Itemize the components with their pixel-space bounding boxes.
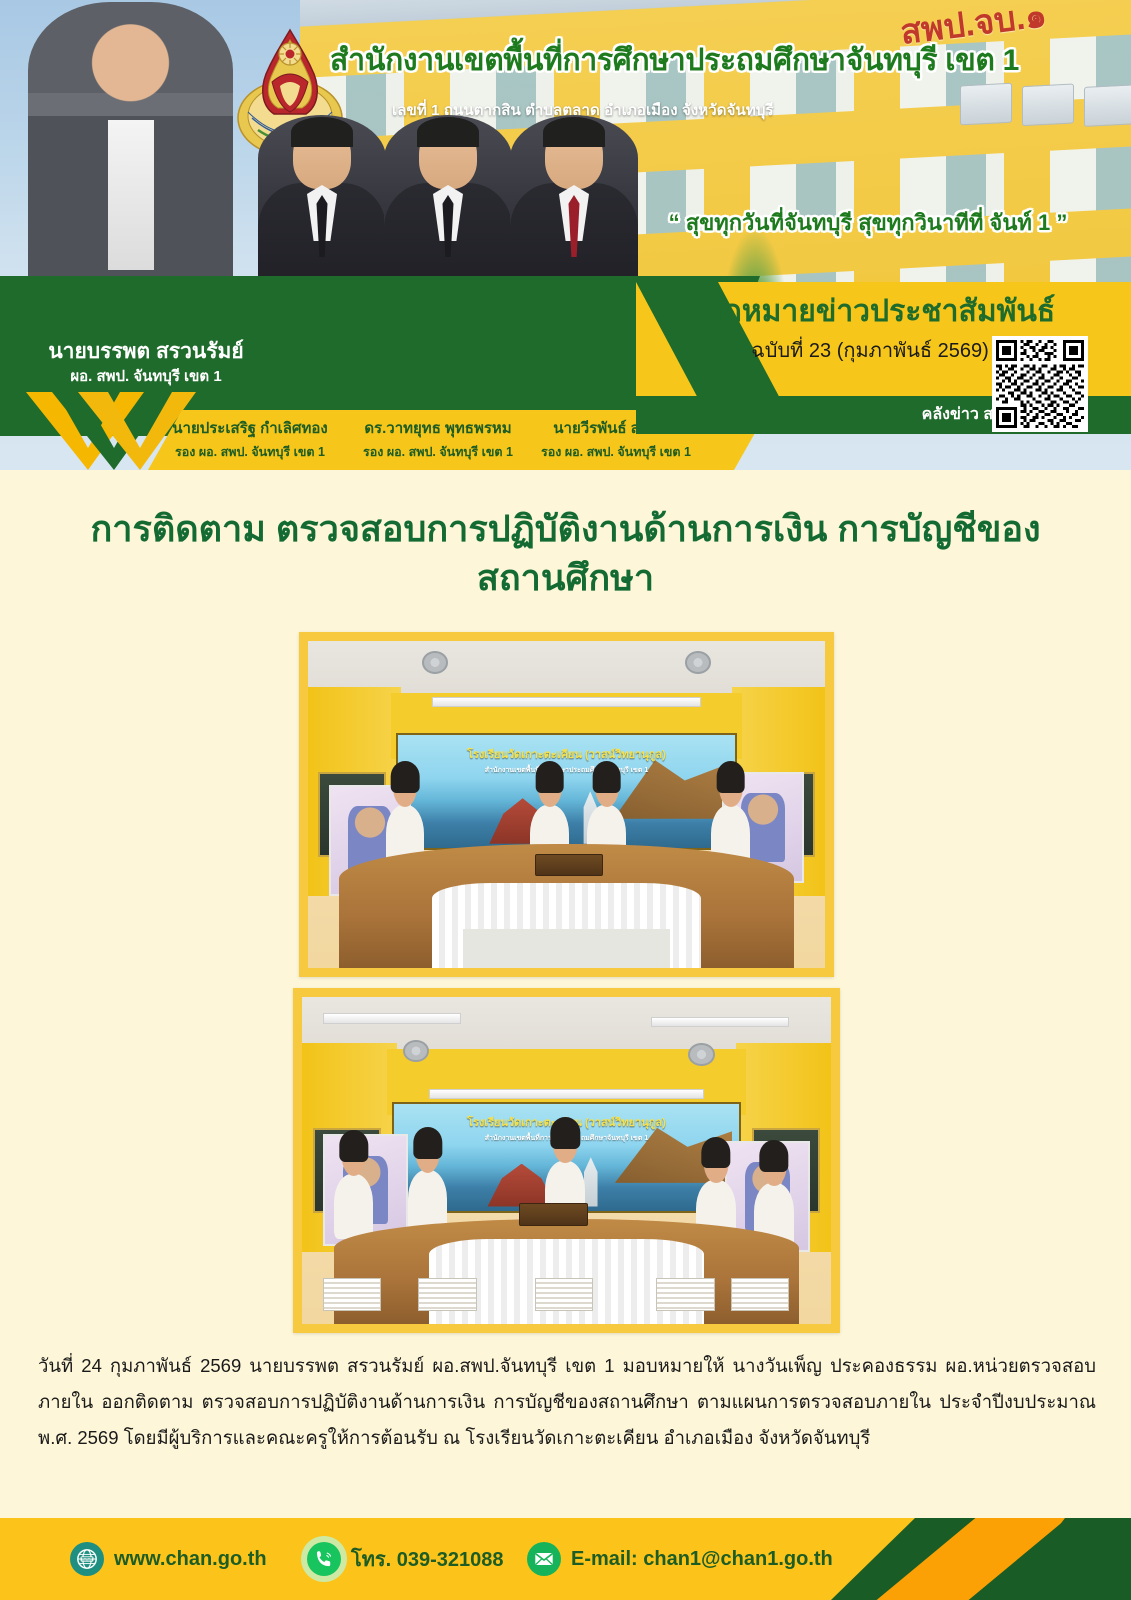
desk-name-plate: [535, 854, 602, 877]
ceiling-fan-icon: [685, 651, 711, 674]
ceiling-fan-icon: [403, 1040, 429, 1063]
portrait-hair: [417, 117, 479, 147]
page-title: การติดตาม ตรวจสอบการปฏิบัติงานด้านการเงิ…: [60, 505, 1071, 602]
office-slogan: “ สุขทุกวันที่จันทบุรี สุขทุกวินาทีที่ จ…: [608, 205, 1128, 240]
document-stack: [323, 1278, 381, 1311]
page-background: [0, 470, 1131, 1500]
deputy-1: นายประเสริฐ กำเลิศทอง รอง ผอ. สพป. จันทบ…: [150, 416, 350, 462]
backdrop-subtitle: สำนักงานเขตพื้นที่การศึกษาประถมศึกษาจันท…: [398, 765, 735, 776]
phone-icon: [307, 1542, 341, 1576]
footer-phone-label: โทร. 039-321088: [351, 1543, 504, 1575]
article-body: วันที่ 24 กุมภาพันธ์ 2569 นายบรรพต สรวนร…: [38, 1348, 1096, 1456]
ceiling-fan-icon: [422, 651, 448, 674]
newsletter-title: จดหมายข่าวประชาสัมพันธ์: [660, 288, 1100, 335]
director-role: ผอ. สพป. จันทบุรี เขต 1: [16, 364, 276, 388]
backdrop-title: โรงเรียนวัดเกาะตะเคียน (วาสน์วิทยานุกูล): [398, 745, 735, 763]
header-banner: สพป.จบ.๑ สำนักงานเขตพื้นที่การศึกษาประถม…: [0, 0, 1131, 470]
office-name: สำนักงานเขตพื้นที่การศึกษาประถมศึกษาจันท…: [330, 44, 1070, 77]
footer-phone[interactable]: โทร. 039-321088: [307, 1542, 504, 1576]
tube-light: [651, 1017, 789, 1027]
photo-1-image: โรงเรียนวัดเกาะตะเคียน (วาสน์วิทยานุกูล)…: [308, 641, 825, 968]
document-stack: [535, 1278, 593, 1311]
attendee: [334, 1174, 374, 1239]
globe-www-icon: WWW: [70, 1542, 104, 1576]
footer-website[interactable]: WWW www.chan.go.th: [70, 1542, 267, 1576]
article-photo-2: โรงเรียนวัดเกาะตะเคียน (วาสน์วิทยานุกูล)…: [293, 988, 840, 1333]
desk-name-plate: [519, 1203, 588, 1226]
document-stack: [418, 1278, 476, 1311]
footer-bar: WWW www.chan.go.th โทร. 039-321088 E-mai…: [0, 1518, 1131, 1600]
photo-2-image: โรงเรียนวัดเกาะตะเคียน (วาสน์วิทยานุกูล)…: [302, 997, 831, 1324]
deputy-2: ดร.วาทยุทธ พุทธพรหม รอง ผอ. สพป. จันทบุร…: [338, 416, 538, 462]
footer-email-label: E-mail: chan1@chan1.go.th: [571, 1548, 833, 1571]
portrait-hair: [291, 117, 353, 147]
document-stack: [731, 1278, 789, 1311]
article-photo-1: โรงเรียนวัดเกาะตะเคียน (วาสน์วิทยานุกูล)…: [299, 632, 834, 977]
footer-website-label: www.chan.go.th: [114, 1548, 267, 1571]
floor: [463, 929, 670, 968]
svg-text:WWW: WWW: [81, 1557, 93, 1561]
deputy-name: ดร.วาทยุทธ พุทธพรหม: [338, 416, 538, 440]
portrait-hair: [543, 117, 605, 147]
tube-light: [432, 697, 701, 707]
envelope-icon: [527, 1542, 561, 1576]
tube-light: [323, 1013, 461, 1023]
ceiling-fan-icon: [688, 1043, 714, 1066]
deputy-role: รอง ผอ. สพป. จันทบุรี เขต 1: [150, 442, 350, 462]
deputy-name: นายประเสริฐ กำเลิศทอง: [150, 416, 350, 440]
qr-code[interactable]: [992, 336, 1088, 432]
deputy-role: รอง ผอ. สพป. จันทบุรี เขต 1: [338, 442, 538, 462]
document-stack: [656, 1278, 714, 1311]
tube-light: [429, 1089, 704, 1099]
footer-email[interactable]: E-mail: chan1@chan1.go.th: [527, 1542, 833, 1576]
deputy-role: รอง ผอ. สพป. จันทบุรี เขต 1: [516, 442, 716, 462]
office-address: เลขที่ 1 ถนนตากสิน ตำบลตลาด อำเภอเมือง จ…: [392, 98, 1092, 122]
